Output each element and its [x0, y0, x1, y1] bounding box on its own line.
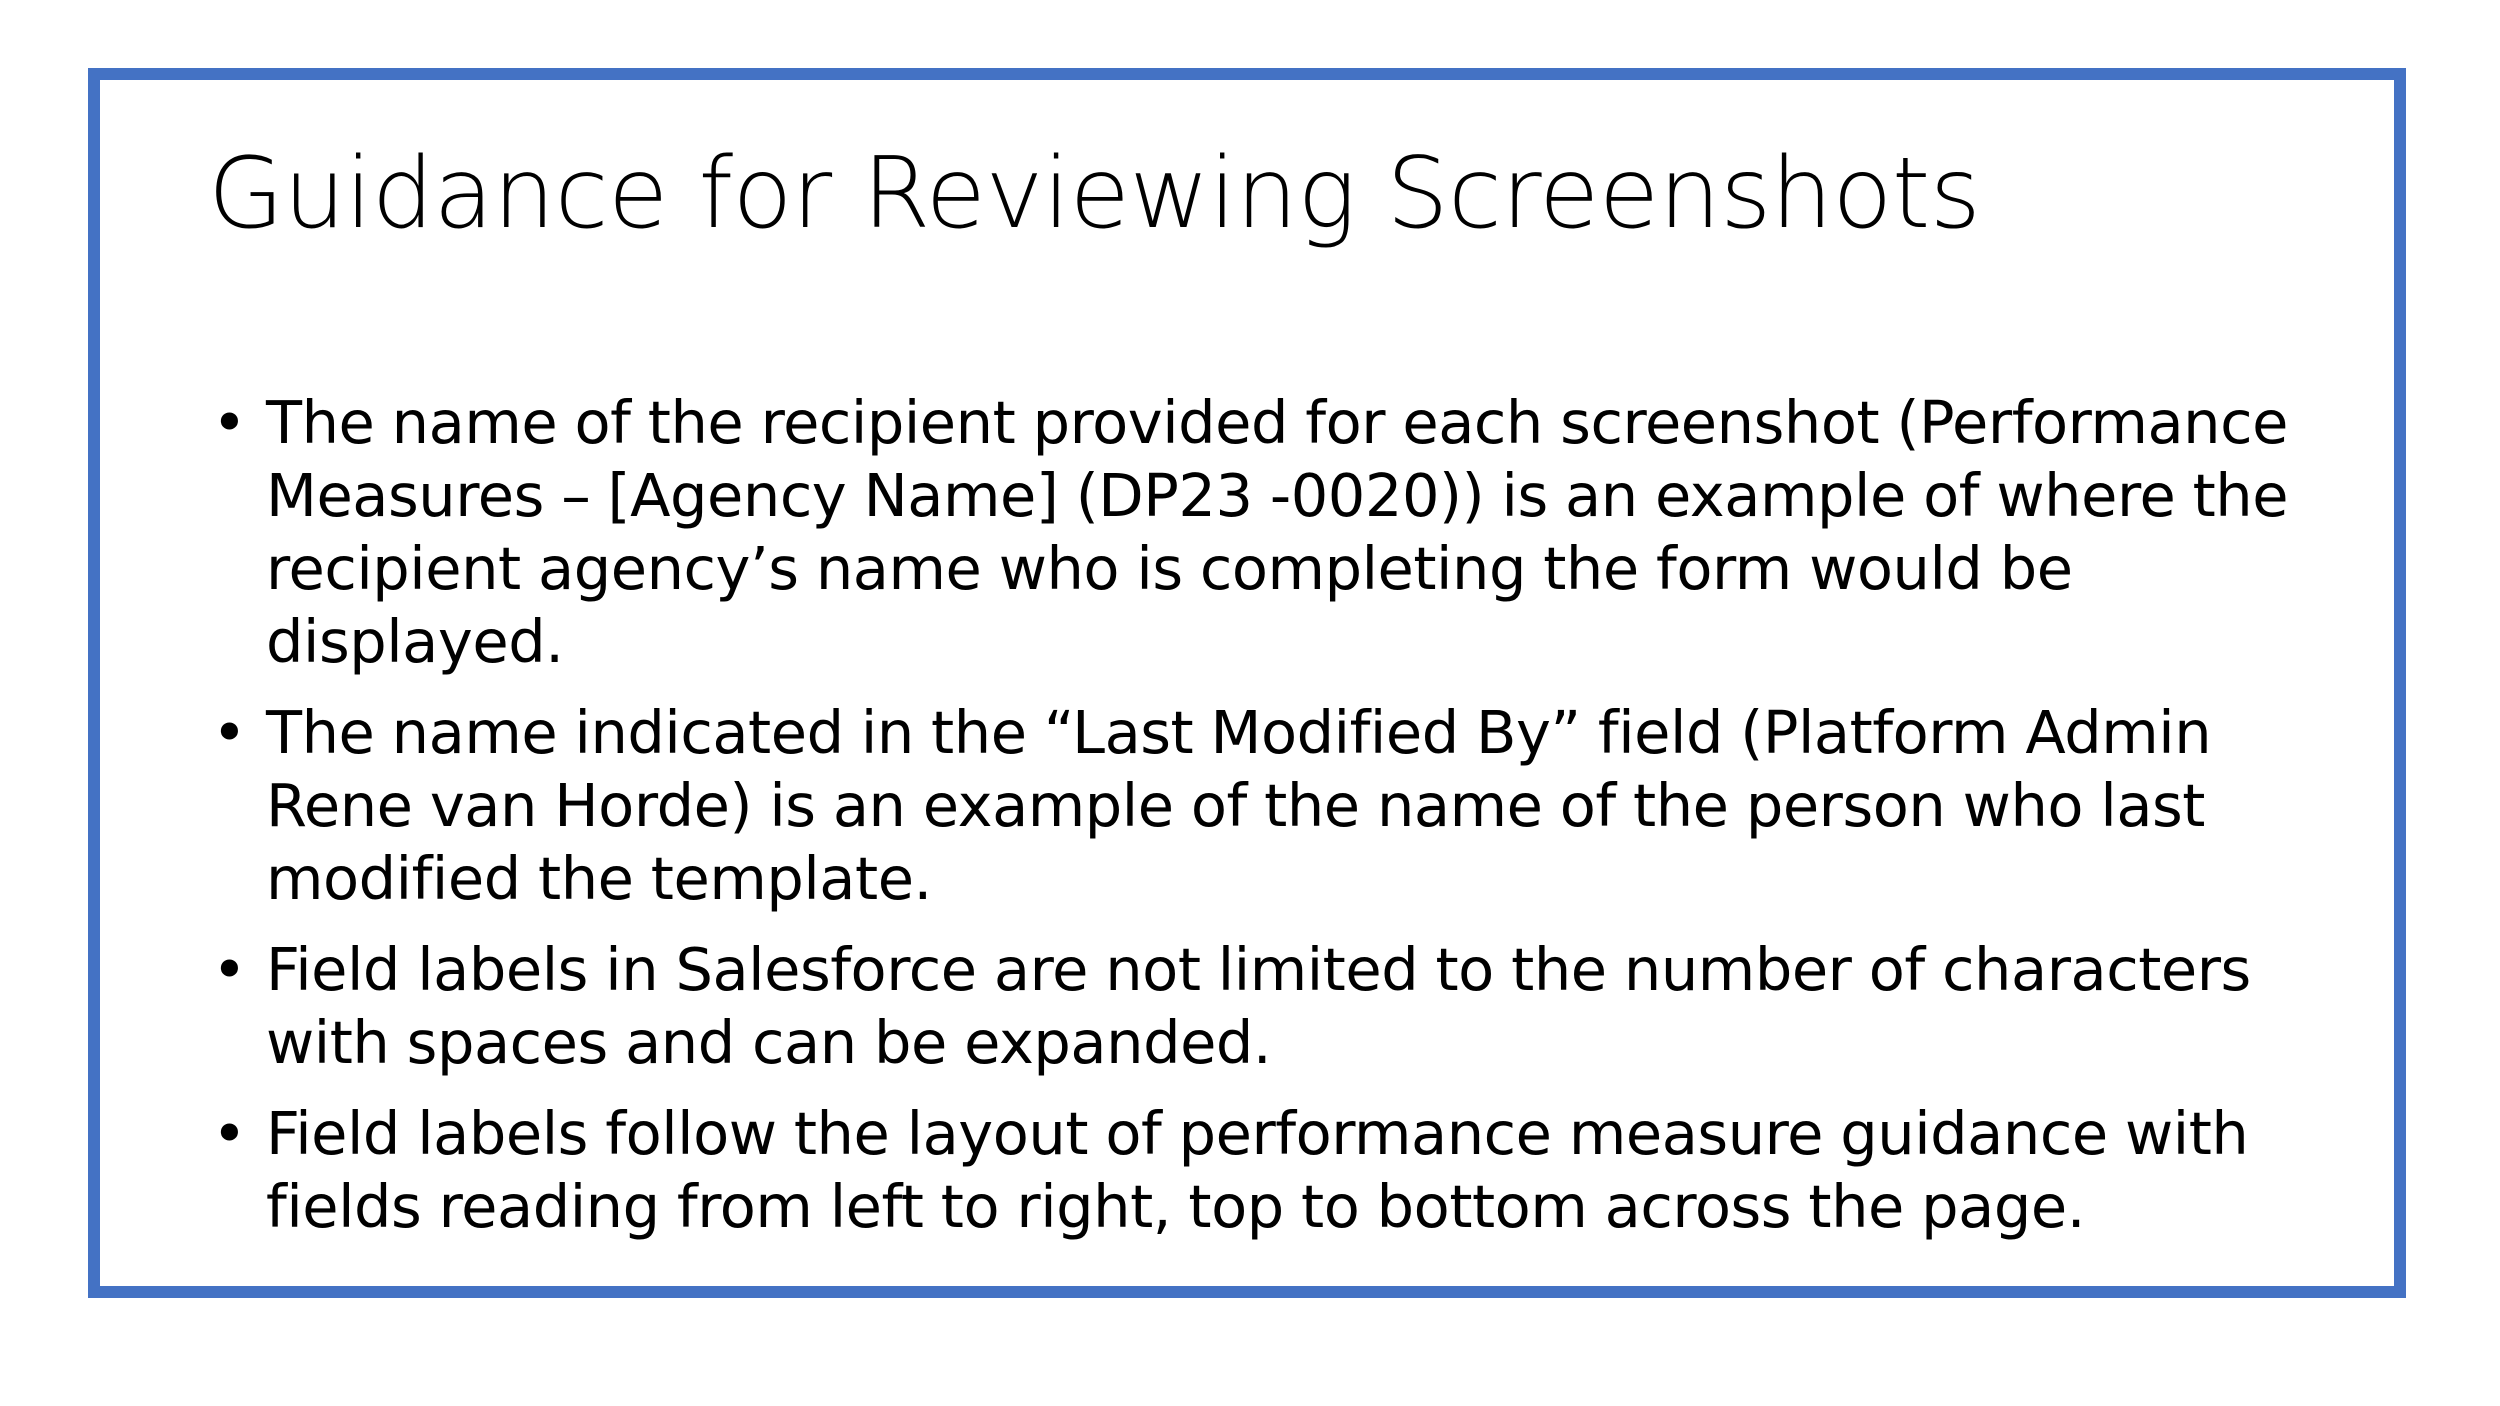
list-item: • Field labels in Salesforce are not lim… [204, 933, 2354, 1079]
slide-content-area: Guidance for Reviewing Screenshots • The… [100, 80, 2418, 1310]
list-item-text: The name of the recipient provided for e… [266, 386, 2354, 678]
bullet-point-icon: • [212, 386, 252, 459]
bullet-point-icon: • [212, 696, 252, 769]
bullet-point-icon: • [212, 933, 252, 1006]
list-item: • Field labels follow the layout of perf… [204, 1097, 2354, 1243]
list-item: • The name of the recipient provided for… [204, 386, 2354, 678]
list-item-text: Field labels in Salesforce are not limit… [266, 933, 2354, 1079]
page-title: Guidance for Reviewing Screenshots [208, 138, 2308, 250]
bullet-point-icon: • [212, 1097, 252, 1170]
bullet-list: • The name of the recipient provided for… [204, 386, 2354, 1243]
list-item-text: Field labels follow the layout of perfor… [266, 1097, 2354, 1243]
slide-border-frame: Guidance for Reviewing Screenshots • The… [88, 68, 2406, 1298]
list-item-text: The name indicated in the “Last Modified… [266, 696, 2354, 915]
slide: Guidance for Reviewing Screenshots • The… [0, 0, 2500, 1406]
list-item: • The name indicated in the “Last Modifi… [204, 696, 2354, 915]
